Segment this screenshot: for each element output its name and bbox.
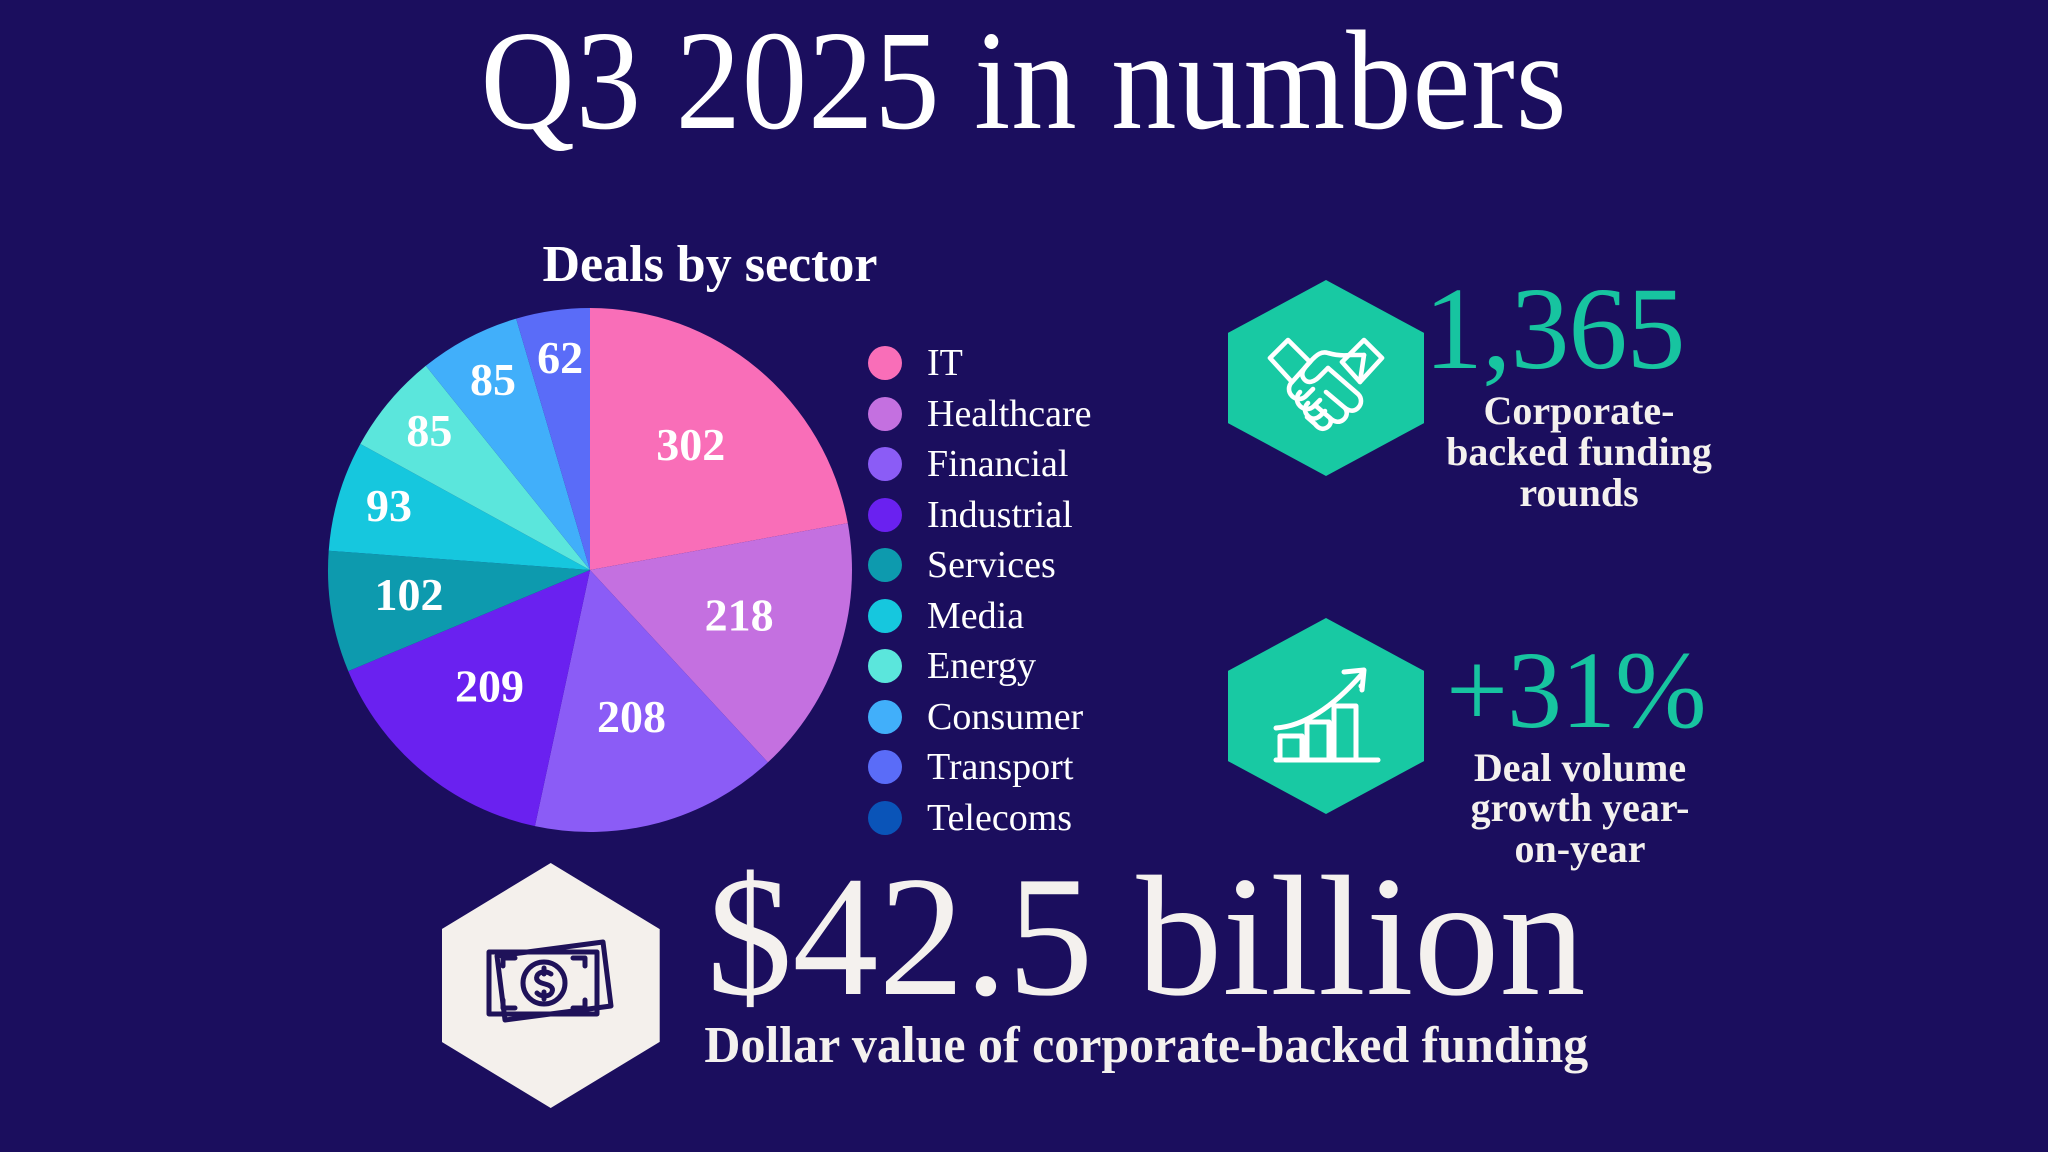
legend-swatch-energy [868, 649, 902, 683]
legend-swatch-telecoms [868, 801, 902, 835]
stat-funding-text: 1,365 Corporate-backed funding rounds [1424, 272, 1734, 514]
page-title: Q3 2025 in numbers [82, 6, 1966, 155]
legend-item-media[interactable]: Media [868, 591, 1092, 642]
legend-swatch-it [868, 346, 902, 380]
legend-label: Consumer [927, 698, 1083, 736]
legend-item-industrial[interactable]: Industrial [868, 490, 1092, 541]
legend-item-healthcare[interactable]: Healthcare [868, 389, 1092, 440]
legend-label: Telecoms [927, 799, 1072, 837]
stat-funding-rounds: 1,365 Corporate-backed funding rounds [1228, 280, 1734, 514]
legend-item-consumer[interactable]: Consumer [868, 692, 1092, 743]
chart-title: Deals by sector [420, 235, 1000, 294]
hexagon-badge-dollar [442, 863, 660, 1108]
banknote-icon [481, 932, 621, 1040]
hexagon-badge-growth [1228, 618, 1424, 814]
pie-value-label: 85 [406, 405, 452, 456]
pie-value-label: 85 [470, 354, 516, 405]
legend-label: Healthcare [927, 395, 1092, 433]
legend-item-telecoms[interactable]: Telecoms [868, 793, 1092, 844]
pie-value-label: 208 [597, 691, 666, 742]
legend-label: IT [927, 344, 963, 382]
hexagon-badge-funding [1228, 280, 1424, 476]
legend-label: Media [927, 597, 1024, 635]
legend-item-energy[interactable]: Energy [868, 641, 1092, 692]
growth-chart-icon [1266, 660, 1386, 772]
legend-label: Industrial [927, 496, 1073, 534]
infographic-canvas: Q3 2025 in numbers Deals by sector 30221… [0, 0, 2048, 1152]
dollar-stat-value: $42.5 billion [706, 855, 1585, 1020]
stat-dollar-value: $42.5 billion Dollar value of corporate-… [0, 855, 2048, 1108]
pie-chart: 30221820820910293858562 [325, 305, 855, 835]
legend-item-transport[interactable]: Transport [868, 742, 1092, 793]
pie-value-label: 93 [366, 480, 412, 531]
legend-item-services[interactable]: Services [868, 540, 1092, 591]
pie-value-label: 62 [537, 332, 583, 383]
stat-funding-value: 1,365 [1424, 272, 1734, 385]
legend-label: Financial [927, 445, 1068, 483]
handshake-icon [1262, 324, 1390, 432]
legend-swatch-healthcare [868, 397, 902, 431]
stat-funding-caption: Corporate-backed funding rounds [1424, 391, 1734, 513]
legend-item-it[interactable]: IT [868, 338, 1092, 389]
pie-chart-svg: 30221820820910293858562 [325, 305, 855, 835]
legend-label: Energy [927, 647, 1036, 685]
legend-swatch-services [868, 548, 902, 582]
legend-swatch-media [868, 599, 902, 633]
legend-swatch-consumer [868, 700, 902, 734]
legend-swatch-transport [868, 750, 902, 784]
pie-value-label: 102 [374, 569, 443, 620]
legend-swatch-financial [868, 447, 902, 481]
pie-value-label: 209 [455, 660, 524, 711]
stat-growth-value: +31% [1446, 638, 1714, 744]
pie-value-label: 302 [656, 419, 725, 470]
legend-item-financial[interactable]: Financial [868, 439, 1092, 490]
chart-legend: ITHealthcareFinancialIndustrialServicesM… [868, 338, 1092, 843]
stat-growth-text: +31% Deal volume growth year-on-year [1446, 638, 1714, 870]
pie-value-label: 218 [705, 589, 774, 640]
legend-swatch-industrial [868, 498, 902, 532]
dollar-stat-caption: Dollar value of corporate-backed funding [704, 1016, 1588, 1075]
legend-label: Services [927, 546, 1056, 584]
dollar-stat-text: $42.5 billion Dollar value of corporate-… [686, 855, 1607, 1075]
legend-label: Transport [927, 748, 1073, 786]
stat-growth: +31% Deal volume growth year-on-year [1228, 618, 1714, 870]
